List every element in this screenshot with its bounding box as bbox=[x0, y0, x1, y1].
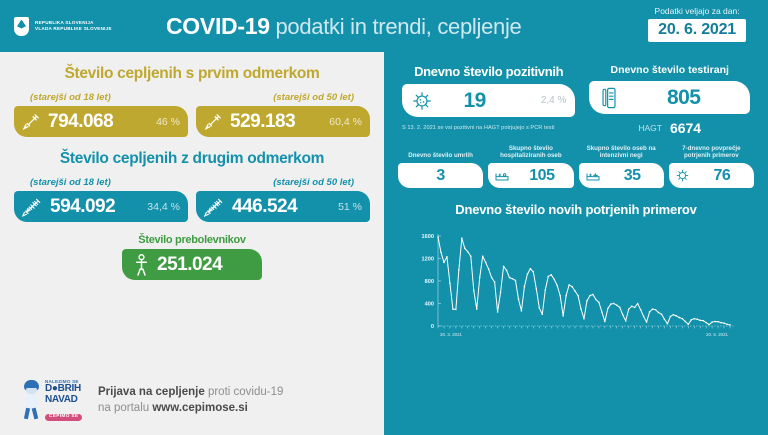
positives-pct: 2,4 % bbox=[541, 95, 567, 106]
badge-line-2: D●BRIH bbox=[45, 384, 82, 394]
svg-text:800: 800 bbox=[425, 279, 434, 285]
stats-panel: Dnevno število pozitivnih 19 bbox=[384, 52, 768, 435]
positives-title: Dnevno število pozitivnih bbox=[402, 64, 575, 79]
recovered-value: 251.024 bbox=[157, 254, 222, 276]
footer-text: Prijava na cepljenje proti covidu-19 na … bbox=[98, 384, 283, 417]
positives-block: Dnevno število pozitivnih 19 bbox=[402, 64, 575, 136]
first-dose-card-50: 529.183 60,4 % bbox=[196, 106, 370, 137]
second-dose-sub-18: (starejši od 18 let) bbox=[30, 177, 111, 188]
data-date-value: 20. 6. 2021 bbox=[648, 19, 746, 42]
first-dose-pct-18: 46 % bbox=[156, 116, 180, 128]
positives-note: S 13. 2. 2021 se vsi pozitivni na HAGT p… bbox=[402, 125, 575, 131]
tests-title: Dnevno število testiranj bbox=[589, 64, 750, 76]
mascot-leg-right bbox=[32, 408, 39, 420]
tests-block: Dnevno število testiranj 805 HAGT bbox=[589, 64, 750, 136]
top-stats-row: Dnevno število pozitivnih 19 bbox=[384, 52, 768, 136]
stat-hospitalized-title: Skupno število hospitaliziranih oseb bbox=[488, 144, 573, 160]
recovered-card: 251.024 bbox=[122, 249, 262, 280]
footer-cta: NALEZIMO SE D●BRIH NAVAD CEPIMO SE Prija… bbox=[22, 380, 283, 421]
mascot-leg-left bbox=[24, 408, 30, 420]
first-dose-subtitles: (starejši od 18 let) (starejši od 50 let… bbox=[0, 92, 384, 103]
second-dose-pct-18: 34,4 % bbox=[147, 201, 180, 213]
infographic-page: REPUBLIKA SLOVENIJA VLADA REPUBLIKE SLOV… bbox=[0, 0, 768, 435]
tests-card: 805 bbox=[589, 81, 750, 114]
chart-title: Dnevno število novih potrjenih primerov bbox=[384, 202, 768, 217]
hagt-value: 6674 bbox=[670, 120, 701, 136]
test-tube-icon bbox=[598, 86, 620, 110]
first-dose-sub-18: (starejši od 18 let) bbox=[30, 92, 111, 103]
person-icon bbox=[134, 254, 149, 276]
second-dose-subtitles: (starejši od 18 let) (starejši od 50 let… bbox=[0, 177, 384, 188]
second-dose-value-50: 446.524 bbox=[232, 196, 297, 218]
stat-icu-card: 35 bbox=[579, 163, 664, 188]
page-title-strong: COVID-19 bbox=[166, 13, 270, 39]
recovered-title: Število prebolevnikov bbox=[0, 234, 384, 246]
first-dose-values: 794.068 46 % 529.183 60,4 % bbox=[0, 106, 384, 137]
syringe-icon bbox=[22, 112, 41, 131]
stat-7day-average-value: 76 bbox=[713, 167, 730, 185]
first-dose-sub-50: (starejši od 50 let) bbox=[273, 92, 354, 103]
campaign-badge-text: NALEZIMO SE D●BRIH NAVAD CEPIMO SE bbox=[45, 380, 82, 421]
first-dose-card-18: 794.068 46 % bbox=[14, 106, 188, 137]
stat-icu: Skupno število oseb na intenzivni negi 3… bbox=[579, 144, 664, 188]
syringe-icon bbox=[204, 112, 223, 131]
mini-stats-row: Dnevno število umrlih 3 Skupno število h… bbox=[384, 136, 768, 188]
logo-line-2: VLADA REPUBLIKE SLOVENIJE bbox=[35, 26, 112, 32]
virus-icon bbox=[675, 168, 690, 183]
chart-data-markers bbox=[437, 236, 730, 325]
double-syringe-icon bbox=[204, 197, 225, 217]
page-title: COVID-19 podatki in trendi, cepljenje bbox=[166, 13, 522, 40]
stat-deaths-value: 3 bbox=[436, 167, 444, 185]
second-dose-value-18: 594.092 bbox=[50, 196, 115, 218]
second-dose-card-18: 594.092 34,4 % bbox=[14, 191, 188, 222]
chart-x-axis bbox=[438, 326, 734, 328]
badge-tag: CEPIMO SE bbox=[45, 414, 82, 421]
stat-hospitalized: Skupno število hospitaliziranih oseb 105 bbox=[488, 144, 573, 188]
hagt-label: HAGT bbox=[638, 123, 662, 133]
footer-line-1: Prijava na cepljenje proti covidu-19 bbox=[98, 384, 283, 400]
chart-x-label-start: 30. 3. 2021 bbox=[440, 332, 463, 337]
chart-line-series bbox=[438, 237, 730, 325]
stat-hospitalized-card: 105 bbox=[488, 163, 573, 188]
stat-icu-value: 35 bbox=[624, 167, 641, 185]
stat-7day-average-title: 7-dnevno povprečje potrjenih primerov bbox=[669, 144, 754, 160]
positives-card: 19 2,4 % bbox=[402, 84, 575, 117]
double-syringe-icon bbox=[22, 197, 43, 217]
stat-7day-average: 7-dnevno povprečje potrjenih primerov 76 bbox=[669, 144, 754, 188]
stat-deaths-card: 3 bbox=[398, 163, 483, 188]
page-header: REPUBLIKA SLOVENIJA VLADA REPUBLIKE SLOV… bbox=[0, 0, 768, 52]
second-dose-values: 594.092 34,4 % 446.524 51 % bbox=[0, 191, 384, 222]
recovered-values: 251.024 bbox=[0, 249, 384, 280]
svg-text:1200: 1200 bbox=[422, 257, 434, 263]
daily-cases-chart: 040080012001600 30. 3. 2021 20. 6. 2021 bbox=[398, 226, 754, 346]
chart-y-axis: 040080012001600 bbox=[422, 234, 441, 330]
footer-line-1-strong: Prijava na cepljenje bbox=[98, 386, 205, 398]
footer-line-2-rest: na portalu bbox=[98, 402, 152, 414]
first-dose-value-18: 794.068 bbox=[48, 111, 113, 133]
page-title-light: podatki in trendi, cepljenje bbox=[270, 14, 522, 39]
second-dose-sub-50: (starejši od 50 let) bbox=[273, 177, 354, 188]
svg-text:0: 0 bbox=[431, 324, 434, 330]
second-dose-title: Število cepljenih z drugim odmerkom bbox=[0, 150, 384, 168]
second-dose-pct-50: 51 % bbox=[338, 201, 362, 213]
chart-x-label-end: 20. 6. 2021 bbox=[706, 332, 729, 337]
stat-icu-title: Skupno število oseb na intenzivni negi bbox=[579, 144, 664, 160]
data-date-box: Podatki veljajo za dan: 20. 6. 2021 bbox=[648, 6, 746, 42]
icu-bed-icon bbox=[585, 168, 601, 184]
second-dose-card-50: 446.524 51 % bbox=[196, 191, 370, 222]
tests-value: 805 bbox=[667, 86, 701, 110]
virus-icon bbox=[411, 90, 433, 112]
first-dose-pct-50: 60,4 % bbox=[329, 116, 362, 128]
stat-deaths: Dnevno število umrlih 3 bbox=[398, 144, 483, 188]
footer-line-2: na portalu www.cepimose.si bbox=[98, 400, 283, 416]
footer-line-1-rest: proti covidu-19 bbox=[205, 386, 284, 398]
stat-hospitalized-value: 105 bbox=[529, 167, 554, 185]
mascot-icon bbox=[22, 380, 42, 420]
stat-7day-average-card: 76 bbox=[669, 163, 754, 188]
svg-text:400: 400 bbox=[425, 302, 434, 308]
badge-line-3: NAVAD bbox=[45, 395, 82, 405]
page-body: Število cepljenih s prvim odmerkom (star… bbox=[0, 52, 768, 435]
footer-website-link[interactable]: www.cepimose.si bbox=[152, 402, 247, 414]
first-dose-title: Število cepljenih s prvim odmerkom bbox=[0, 65, 384, 83]
hospital-bed-icon bbox=[494, 168, 510, 184]
government-logo: REPUBLIKA SLOVENIJA VLADA REPUBLIKE SLOV… bbox=[14, 17, 164, 36]
positives-value: 19 bbox=[463, 89, 485, 113]
stat-deaths-title: Dnevno število umrlih bbox=[398, 144, 483, 160]
slovenia-crest-icon bbox=[14, 17, 29, 36]
data-date-label: Podatki veljajo za dan: bbox=[648, 6, 746, 16]
svg-text:1600: 1600 bbox=[422, 234, 434, 240]
campaign-badge: NALEZIMO SE D●BRIH NAVAD CEPIMO SE bbox=[22, 380, 88, 421]
vaccination-panel: Število cepljenih s prvim odmerkom (star… bbox=[0, 52, 384, 435]
hagt-row: HAGT 6674 bbox=[589, 120, 750, 136]
first-dose-value-50: 529.183 bbox=[230, 111, 295, 133]
government-logo-text: REPUBLIKA SLOVENIJA VLADA REPUBLIKE SLOV… bbox=[35, 20, 112, 31]
chart-svg: 040080012001600 30. 3. 2021 20. 6. 2021 bbox=[398, 226, 754, 346]
